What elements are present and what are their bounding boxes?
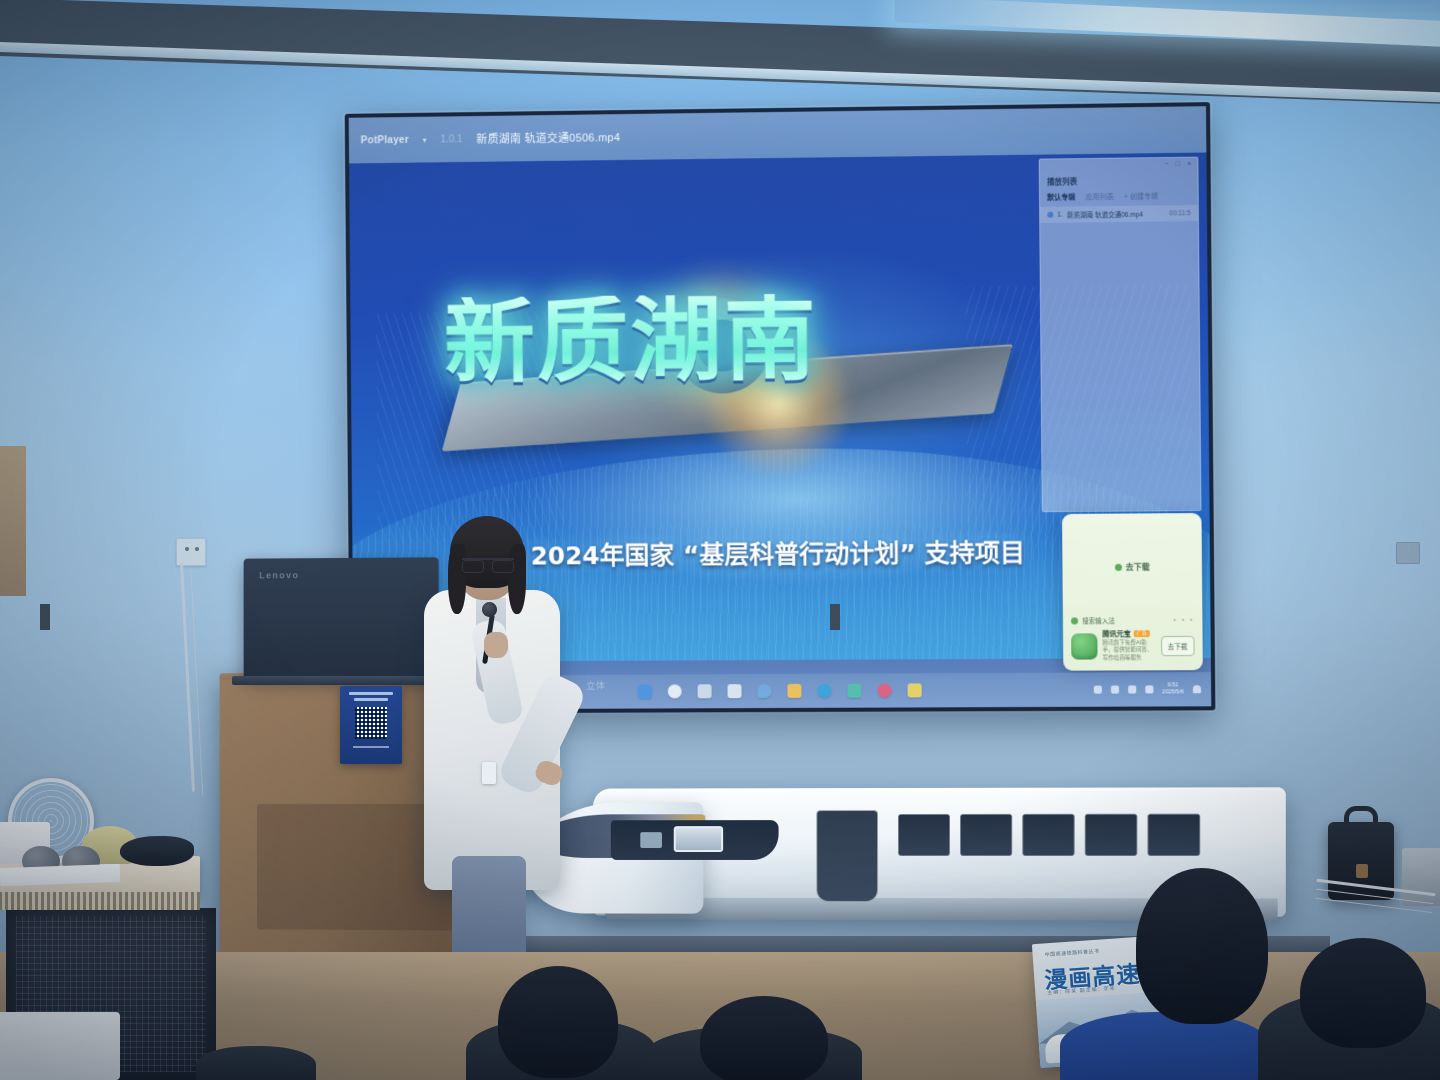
wall-panel-left [0,446,26,596]
ime-icon [1071,617,1078,624]
laptop-brand-label: Lenovo [259,570,299,580]
presenter-hair-right [508,544,526,614]
train-passenger-window [1085,814,1138,856]
network-icon[interactable] [1111,686,1119,694]
gray-equipment-box [1402,848,1440,906]
promo-app-desc: 腾讯旗下免费AI助手，提供智能问答、写作绘画等服务 [1102,640,1155,663]
audience-head [1300,938,1426,1048]
playlist-header: 播放列表 [1040,171,1198,191]
decor-mesh-right [965,284,1192,548]
presenter [424,524,560,972]
wall-box-right [1396,542,1420,564]
audience-head [498,966,618,1078]
playlist-item-duration: 00:11:5 [1169,210,1191,217]
minimize-icon[interactable]: − [1165,161,1169,168]
promo-download-button[interactable]: 去下载 [1161,636,1195,656]
playlist-window-buttons[interactable]: − □ × [1040,158,1198,173]
download-primary-label: 去下载 [1126,562,1150,573]
download-icon [1114,564,1121,571]
podium-sign [340,686,402,764]
clock-time: 9:51 [1162,682,1184,689]
presenter-hair-left [448,544,466,614]
podium-sign-line-2 [354,698,388,701]
player-app-name: PotPlayer [361,134,409,146]
chat-icon[interactable] [757,684,771,698]
notes-icon[interactable] [908,683,922,697]
audience-head [1136,868,1268,1024]
book-kicker: 中国高速铁路科普丛书 [1044,948,1099,959]
laptop[interactable]: Lenovo [244,557,439,678]
podium-sign-line-1 [349,692,393,695]
bell-icon[interactable] [1193,685,1201,693]
search-icon[interactable] [668,684,682,698]
microphone-icon [482,602,497,617]
playlist-tab-default[interactable]: 默认专辑 [1047,192,1075,202]
player-menu-hint: 1.0.1 [440,134,462,145]
system-tray[interactable]: 9:51 2025/5/6 [1093,672,1201,707]
overflow-dots-icon[interactable]: • • • [1174,617,1195,624]
playlist-item-index: 1. [1057,211,1063,218]
ime-icon[interactable] [1145,685,1153,693]
playlist-item-name: 新质湖南 轨道交通06.mp4 [1067,209,1143,220]
train-passenger-window [1022,814,1074,856]
player-titlebar[interactable]: PotPlayer ▾ 1.0.1 新质湖南 轨道交通0506.mp4 [349,106,1207,163]
playlist-tab-create[interactable]: + 创建专辑 [1124,191,1159,201]
close-icon[interactable]: × [1187,161,1191,168]
promo-app-name: 腾讯元宝 [1102,631,1130,638]
ime-hint-row: 搜索输入法 • • • [1071,613,1194,631]
video-main-title: 新质湖南 [443,291,1009,388]
video-title-lockup: 新质湖南 [443,291,1009,447]
tencent-yuanbao-icon [1071,634,1097,660]
laptop-base [232,676,448,685]
speaker-label [1356,864,1368,878]
video-subtitle: 2024年国家 “基层科普行动计划” 支持项目 [530,533,1062,572]
train-cab-window [674,826,723,852]
download-promo-card[interactable]: 去下载 搜索输入法 • • • 腾讯元宝广告 腾讯旗下免费AI助手，提供智能问答… [1062,513,1203,671]
widgets-icon[interactable] [727,684,741,698]
download-primary-row[interactable]: 去下载 [1070,521,1194,614]
ime-hint-label: 搜索输入法 [1082,615,1115,625]
ad-badge: 广告 [1134,630,1150,637]
lecture-hall-scene: 新质湖南 2024年国家 “基层科普行动计划” 支持项目 PotPlayer ▾… [0,0,1440,1080]
train-door [816,810,878,902]
chevron-down-icon[interactable]: ▾ [423,135,427,144]
volume-icon[interactable] [1128,685,1136,693]
presenter-hand-left [484,632,508,658]
screen-mount-left [40,604,50,630]
clock-date: 2025/5/6 [1162,689,1184,696]
qr-code-icon [355,707,387,739]
taskbar-clock[interactable]: 9:51 2025/5/6 [1162,682,1184,696]
playlist-panel[interactable]: − □ × 播放列表 默认专辑 应用列表 + 创建专辑 1. 新质湖南 轨道交通… [1039,157,1202,512]
chevron-up-icon[interactable] [1093,686,1101,694]
train-passenger-window [1147,814,1200,856]
maximize-icon[interactable]: □ [1176,161,1180,168]
podium-sign-footer [353,746,389,748]
media-icon[interactable] [877,684,891,698]
glasses-icon [462,558,514,570]
store-icon[interactable] [847,684,861,698]
media-file-icon [1047,212,1053,218]
task-view-icon[interactable] [698,684,712,698]
playlist-tabs[interactable]: 默认专辑 应用列表 + 创建专辑 [1040,189,1198,207]
black-bag [120,836,194,866]
audience-shoulders [1060,1012,1270,1080]
player-file-name: 新质湖南 轨道交通0506.mp4 [476,129,620,147]
audience-shoulders [196,1046,316,1080]
table-cloth-fringe [0,892,200,910]
audience-head [700,996,828,1080]
file-explorer-icon[interactable] [787,684,801,698]
screen-mount-right [830,604,840,630]
edge-icon[interactable] [817,684,831,698]
train-side-window [640,832,662,848]
playlist-item[interactable]: 1. 新质湖南 轨道交通06.mp4 00:11:5 [1040,205,1198,223]
promo-app-row[interactable]: 腾讯元宝广告 腾讯旗下免费AI助手，提供智能问答、写作绘画等服务 去下载 [1071,630,1195,662]
train-passenger-window [960,814,1012,856]
train-passenger-window [898,814,950,856]
presenter-badge [482,762,496,784]
white-desk [0,1012,120,1080]
start-icon[interactable] [638,685,652,699]
promo-app-text: 腾讯元宝广告 腾讯旗下免费AI助手，提供智能问答、写作绘画等服务 [1102,630,1155,662]
playlist-tab-apps[interactable]: 应用列表 [1085,192,1113,202]
